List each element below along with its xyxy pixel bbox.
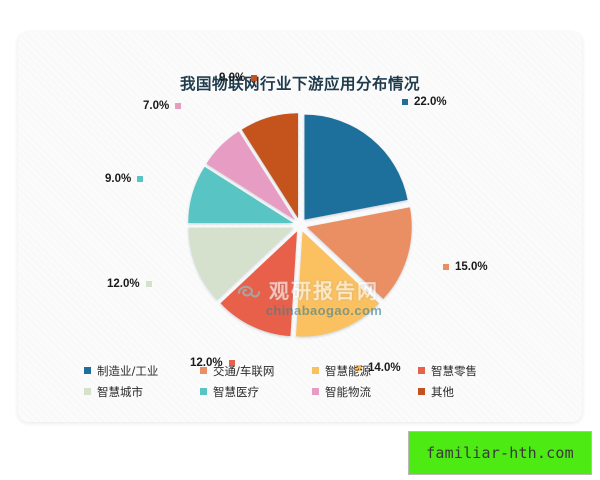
pie-data-label: 9.0% xyxy=(105,173,143,185)
legend-swatch-icon xyxy=(84,367,91,374)
pie-data-label-value: 22.0% xyxy=(414,96,447,108)
pie-svg xyxy=(18,92,582,367)
promo-banner[interactable]: familiar-hth.com xyxy=(408,431,592,475)
legend-swatch-icon xyxy=(200,388,207,395)
legend-label: 其他 xyxy=(431,384,454,400)
pie-data-label: 9.0% xyxy=(219,72,257,84)
legend-label: 智慧能源 xyxy=(325,363,371,379)
pie-data-label-value: 15.0% xyxy=(455,261,488,273)
legend-label: 智能物流 xyxy=(325,384,371,400)
legend-swatch-icon xyxy=(312,367,319,374)
page-root: 我国物联网行业下游应用分布情况 观研报告网 chinabaogao.com 22 xyxy=(0,0,600,480)
pie-data-label-swatch-icon xyxy=(251,75,257,81)
legend-label: 智慧医疗 xyxy=(213,384,259,400)
page-title: 我国物联网行业下游应用分布情况 xyxy=(18,72,582,94)
legend-item[interactable]: 交通/车联网 xyxy=(200,363,312,379)
legend-label: 智慧城市 xyxy=(97,384,143,400)
pie-data-label-swatch-icon xyxy=(443,264,449,270)
pie-data-label-swatch-icon xyxy=(146,281,152,287)
legend-item[interactable]: 智能物流 xyxy=(312,384,418,400)
chart-card: 我国物联网行业下游应用分布情况 观研报告网 chinabaogao.com 22 xyxy=(18,32,582,422)
legend-swatch-icon xyxy=(418,367,425,374)
pie-data-label-swatch-icon xyxy=(175,103,181,109)
legend-item[interactable]: 智慧零售 xyxy=(418,363,524,379)
legend-item[interactable]: 智慧城市 xyxy=(84,384,200,400)
promo-banner-text: familiar-hth.com xyxy=(426,444,574,462)
pie-slice[interactable] xyxy=(304,115,407,220)
pie-data-label-value: 9.0% xyxy=(105,173,131,185)
legend-label: 制造业/工业 xyxy=(97,363,158,379)
pie-data-label: 7.0% xyxy=(143,100,181,112)
pie-data-label-value: 9.0% xyxy=(219,72,245,84)
pie-data-label-swatch-icon xyxy=(137,176,143,182)
legend-label: 智慧零售 xyxy=(431,363,477,379)
pie-data-label-value: 12.0% xyxy=(107,278,140,290)
pie-chart: 观研报告网 chinabaogao.com 22.0%15.0%14.0%12.… xyxy=(18,92,582,367)
pie-slices xyxy=(188,113,411,336)
legend-swatch-icon xyxy=(200,367,207,374)
pie-data-label-value: 7.0% xyxy=(143,100,169,112)
pie-data-label: 12.0% xyxy=(107,278,152,290)
legend-item[interactable]: 制造业/工业 xyxy=(84,363,200,379)
pie-data-label-swatch-icon xyxy=(402,99,408,105)
legend-swatch-icon xyxy=(84,388,91,395)
legend-label: 交通/车联网 xyxy=(213,363,274,379)
legend-swatch-icon xyxy=(418,388,425,395)
legend: 制造业/工业交通/车联网智慧能源智慧零售智慧城市智慧医疗智能物流其他 xyxy=(84,360,524,402)
pie-data-label: 15.0% xyxy=(443,261,488,273)
legend-swatch-icon xyxy=(312,388,319,395)
pie-data-label: 22.0% xyxy=(402,96,447,108)
legend-item[interactable]: 其他 xyxy=(418,384,524,400)
legend-item[interactable]: 智慧能源 xyxy=(312,363,418,379)
legend-item[interactable]: 智慧医疗 xyxy=(200,384,312,400)
